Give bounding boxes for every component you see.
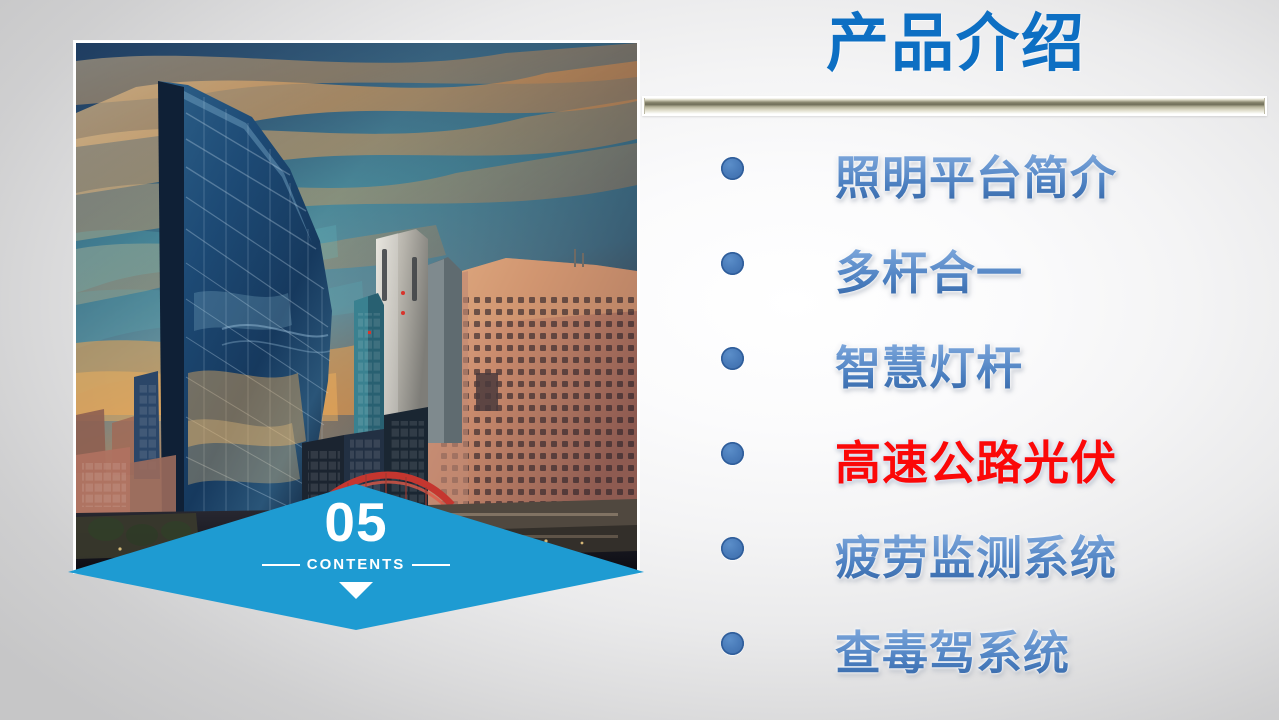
title-divider-inner xyxy=(644,98,1265,114)
list-item[interactable]: 智慧灯杆 xyxy=(645,320,1275,415)
bullet-icon xyxy=(721,537,744,560)
list-item-label: 多杆合一 xyxy=(835,225,1023,320)
contents-rule-left xyxy=(262,564,300,566)
bullet-icon xyxy=(721,632,744,655)
list-item[interactable]: 高速公路光伏 xyxy=(645,415,1275,510)
chevron-down-icon xyxy=(339,582,373,599)
bullet-icon xyxy=(721,347,744,370)
list-item-label: 智慧灯杆 xyxy=(835,320,1023,415)
list-item-label: 查毒驾系统 xyxy=(835,605,1070,700)
contents-subtitle: CONTENTS xyxy=(307,556,406,573)
list-item[interactable]: 照明平台简介 xyxy=(645,130,1275,225)
contents-rule-right xyxy=(412,564,450,566)
list-item-label: 疲劳监测系统 xyxy=(835,510,1117,605)
bullet-icon xyxy=(721,157,744,180)
bullet-icon xyxy=(721,442,744,465)
list-item[interactable]: 多杆合一 xyxy=(645,225,1275,320)
page-title: 产品介绍 xyxy=(645,2,1267,87)
list-item-label: 照明平台简介 xyxy=(835,130,1117,225)
presentation-slide: 05 CONTENTS 产品介绍 照明平台简介 多杆合一 智慧灯杆 高速公路光伏 xyxy=(0,0,1279,720)
list-item[interactable]: 查毒驾系统 xyxy=(645,605,1275,700)
contents-number: 05 xyxy=(68,495,644,550)
contents-badge: 05 CONTENTS xyxy=(68,484,644,630)
title-divider xyxy=(642,96,1267,116)
bullet-icon xyxy=(721,252,744,275)
contents-list: 照明平台简介 多杆合一 智慧灯杆 高速公路光伏 疲劳监测系统 查毒驾系统 xyxy=(645,130,1275,700)
contents-subtitle-group: CONTENTS xyxy=(68,556,644,573)
list-item-label: 高速公路光伏 xyxy=(835,415,1117,510)
list-item[interactable]: 疲劳监测系统 xyxy=(645,510,1275,605)
